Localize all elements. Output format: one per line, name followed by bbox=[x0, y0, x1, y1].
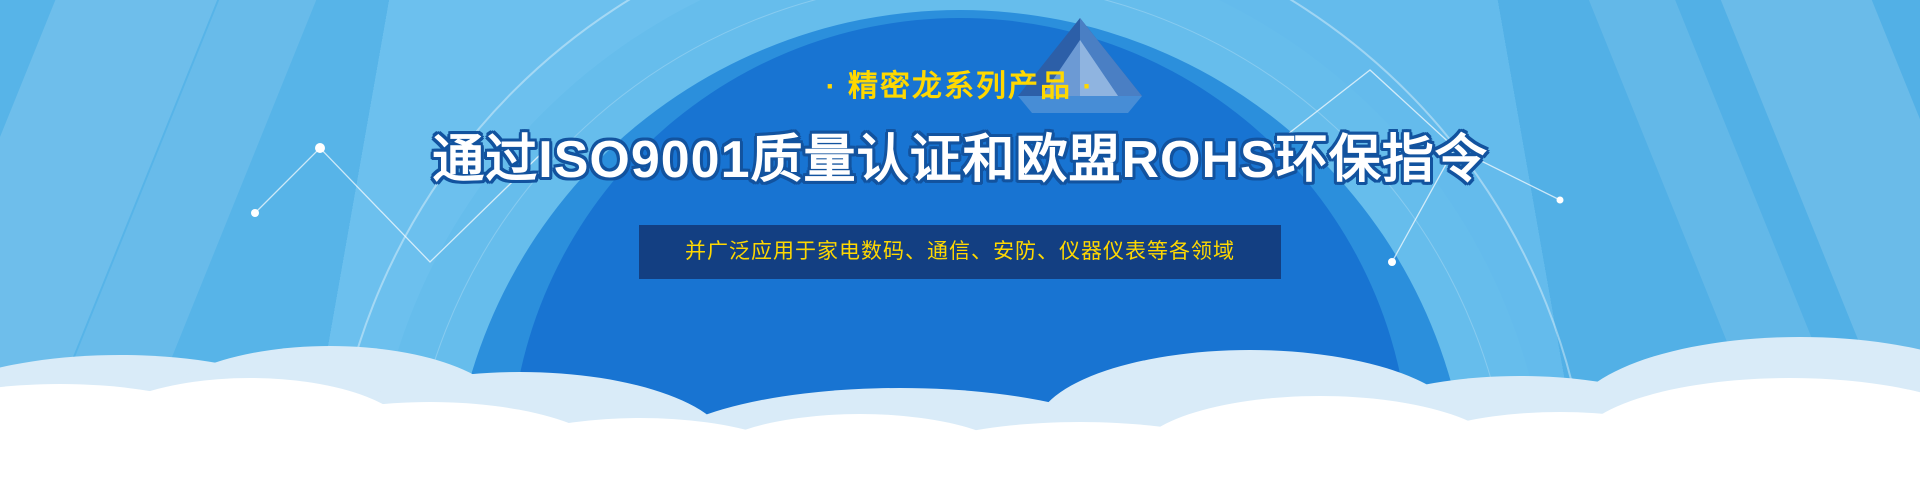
clouds-icon bbox=[0, 290, 1920, 480]
banner-headline: 通过ISO9001质量认证和欧盟ROHS环保指令 bbox=[0, 132, 1920, 189]
banner-eyebrow: · 精密龙系列产品 · bbox=[0, 72, 1920, 102]
banner-subtitle-row: 并广泛应用于家电数码、通信、安防、仪器仪表等各领域 bbox=[0, 225, 1920, 279]
banner-content: · 精密龙系列产品 · 通过ISO9001质量认证和欧盟ROHS环保指令 并广泛… bbox=[0, 0, 1920, 279]
banner-subtitle-badge: 并广泛应用于家电数码、通信、安防、仪器仪表等各领域 bbox=[639, 225, 1281, 279]
promo-banner: · 精密龙系列产品 · 通过ISO9001质量认证和欧盟ROHS环保指令 并广泛… bbox=[0, 0, 1920, 480]
